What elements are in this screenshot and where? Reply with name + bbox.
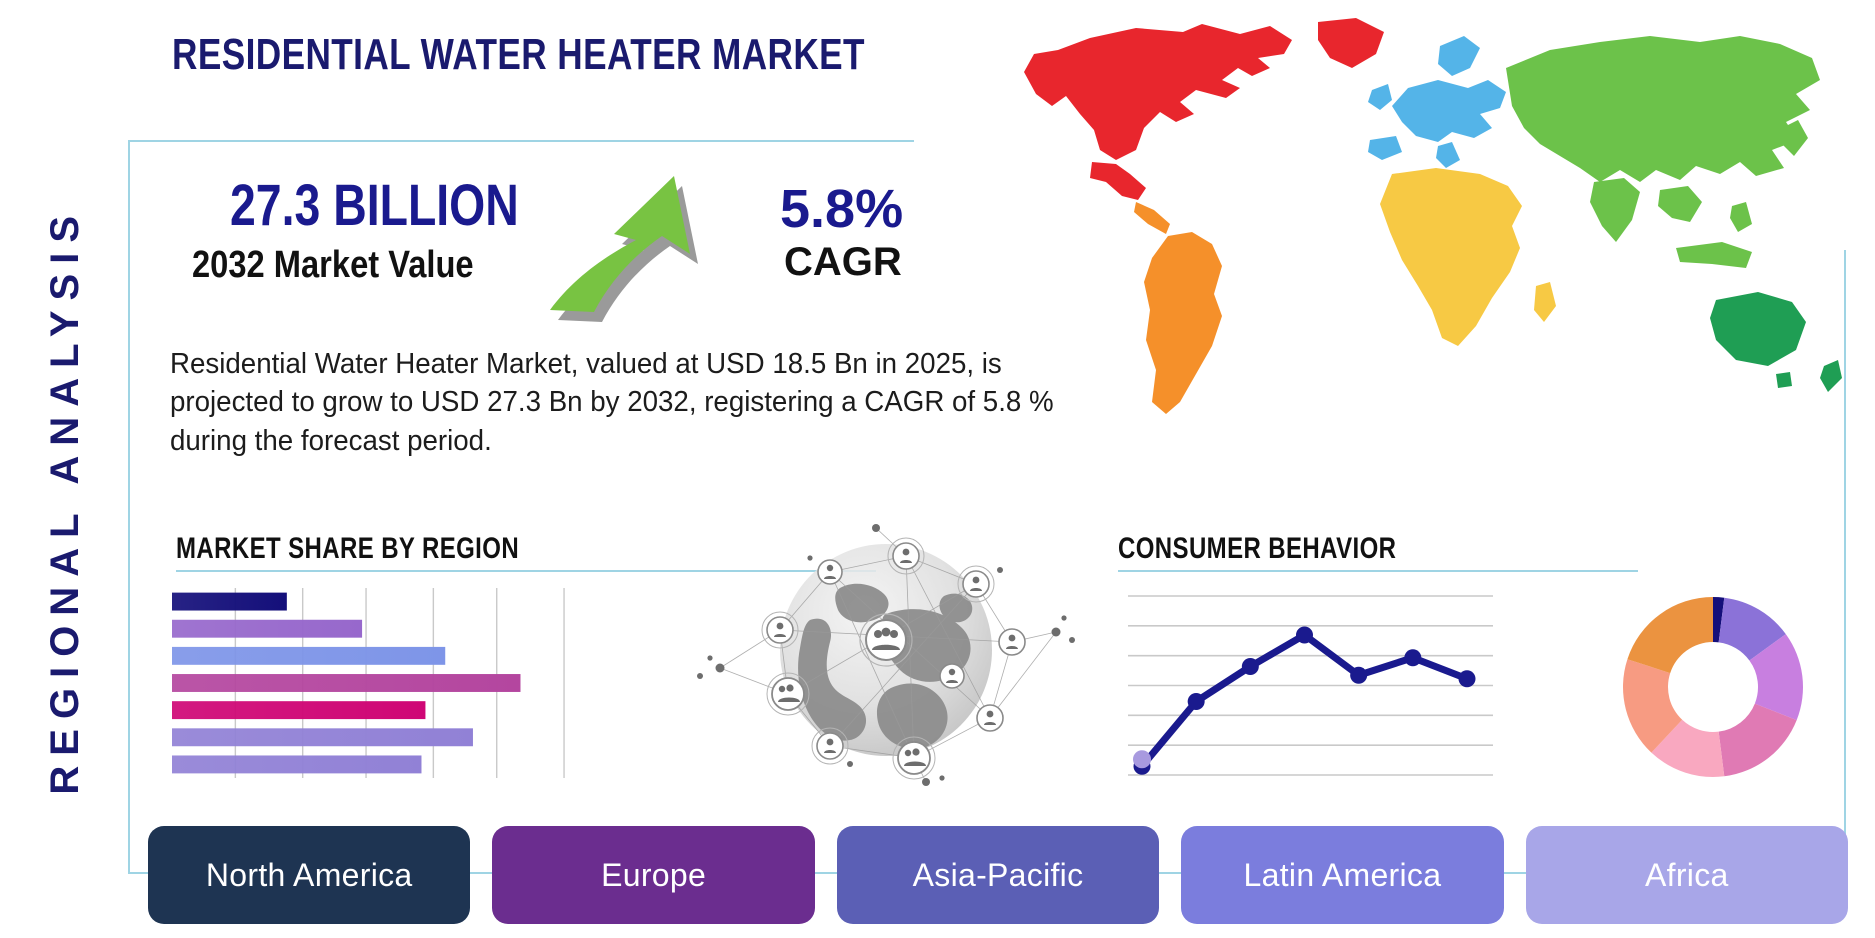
map-region-europe-iberia bbox=[1368, 136, 1402, 160]
consumer-behavior-heading: CONSUMER BEHAVIOR bbox=[1118, 532, 1638, 572]
map-region-oceania-australia bbox=[1710, 292, 1806, 366]
line-chart-marker bbox=[1242, 658, 1259, 675]
region-button-asia-pacific[interactable]: Asia-Pacific bbox=[837, 826, 1159, 924]
consumer-behavior-line-chart bbox=[1128, 588, 1493, 783]
line-chart-marker bbox=[1404, 649, 1421, 666]
network-node-icon bbox=[767, 673, 809, 715]
region-button-label: Asia-Pacific bbox=[913, 857, 1084, 894]
map-region-europe-italy bbox=[1436, 142, 1460, 168]
map-region-asia-philippines bbox=[1730, 202, 1752, 232]
map-region-oceania-tasmania bbox=[1776, 372, 1792, 388]
region-button-label: Latin America bbox=[1244, 857, 1442, 894]
map-region-north-america-greenland bbox=[1318, 18, 1384, 68]
map-region-asia bbox=[1506, 36, 1820, 182]
bar-chart-bar bbox=[172, 647, 445, 665]
side-label-text: REGIONAL ANALYSIS bbox=[43, 206, 88, 795]
map-region-oceania-new-zealand bbox=[1820, 360, 1842, 392]
network-node-icon bbox=[888, 538, 924, 574]
map-region-asia-india bbox=[1590, 178, 1640, 242]
market-share-heading-text: MARKET SHARE BY REGION bbox=[176, 532, 736, 566]
donut-chart-slice bbox=[1627, 597, 1713, 673]
frame-top-divider bbox=[128, 140, 914, 142]
line-chart-marker bbox=[1350, 667, 1367, 684]
region-button-latin-america[interactable]: Latin America bbox=[1181, 826, 1503, 924]
map-region-north-america bbox=[1024, 24, 1292, 160]
bar-chart-bar bbox=[172, 728, 473, 746]
map-region-asia-southeast bbox=[1658, 186, 1702, 222]
bar-chart-bar bbox=[172, 755, 421, 773]
consumer-behavior-heading-rule bbox=[1118, 570, 1638, 572]
region-button-label: Europe bbox=[601, 857, 706, 894]
market-value-figure: 27.3 BILLION bbox=[230, 172, 519, 239]
consumer-behavior-heading-text: CONSUMER BEHAVIOR bbox=[1118, 532, 1534, 566]
network-node-icon bbox=[762, 612, 798, 648]
map-region-africa bbox=[1380, 168, 1522, 346]
map-region-north-america-mexico bbox=[1090, 162, 1146, 200]
map-region-europe bbox=[1392, 80, 1506, 142]
network-node-icon bbox=[812, 728, 848, 764]
network-node-icon bbox=[999, 629, 1025, 655]
network-node-icon bbox=[958, 566, 994, 602]
network-node-icon bbox=[940, 664, 964, 688]
market-summary-text: Residential Water Heater Market, valued … bbox=[170, 345, 1063, 460]
bar-chart-bar bbox=[172, 620, 362, 638]
consumer-behavior-donut-chart bbox=[1618, 592, 1808, 782]
region-button-africa[interactable]: Africa bbox=[1526, 826, 1848, 924]
regional-analysis-side-label: REGIONAL ANALYSIS bbox=[28, 120, 102, 880]
bar-chart-bar bbox=[172, 593, 287, 611]
global-network-graphic bbox=[690, 510, 1080, 790]
region-button-label: North America bbox=[206, 857, 413, 894]
market-share-bar-chart bbox=[172, 588, 572, 778]
cagr-figure: 5.8% bbox=[780, 178, 903, 240]
line-chart-marker bbox=[1188, 693, 1205, 710]
page-title: RESIDENTIAL WATER HEATER MARKET bbox=[172, 30, 865, 80]
network-node-icon bbox=[977, 705, 1003, 731]
region-button-bar: North America Europe Asia-Pacific Latin … bbox=[148, 826, 1848, 924]
region-button-europe[interactable]: Europe bbox=[492, 826, 814, 924]
map-region-central-america bbox=[1134, 202, 1170, 234]
world-map-graphic bbox=[940, 10, 1845, 490]
network-node-icon bbox=[860, 614, 912, 666]
line-chart-highlight-marker bbox=[1133, 750, 1151, 768]
map-region-south-america bbox=[1144, 232, 1222, 414]
region-button-label: Africa bbox=[1645, 857, 1729, 894]
cagr-caption: CAGR bbox=[784, 240, 902, 285]
network-node-icon bbox=[893, 737, 935, 779]
growth-arrow-icon bbox=[550, 162, 740, 322]
line-chart-marker bbox=[1459, 670, 1476, 687]
line-chart-marker bbox=[1296, 627, 1313, 644]
bar-chart-bar bbox=[172, 674, 520, 692]
region-button-north-america[interactable]: North America bbox=[148, 826, 470, 924]
map-region-africa-madagascar bbox=[1534, 282, 1556, 322]
frame-left-divider bbox=[128, 140, 130, 874]
map-region-asia-indonesia bbox=[1676, 242, 1752, 268]
bar-chart-bar bbox=[172, 701, 425, 719]
map-region-europe-uk bbox=[1368, 84, 1392, 110]
map-region-europe-scandinavia bbox=[1438, 36, 1480, 76]
network-node-icon bbox=[818, 560, 842, 584]
key-stats-row: 27.3 BILLION 2032 Market Value 5.8% CAGR bbox=[172, 172, 932, 312]
market-value-caption: 2032 Market Value bbox=[192, 244, 474, 287]
